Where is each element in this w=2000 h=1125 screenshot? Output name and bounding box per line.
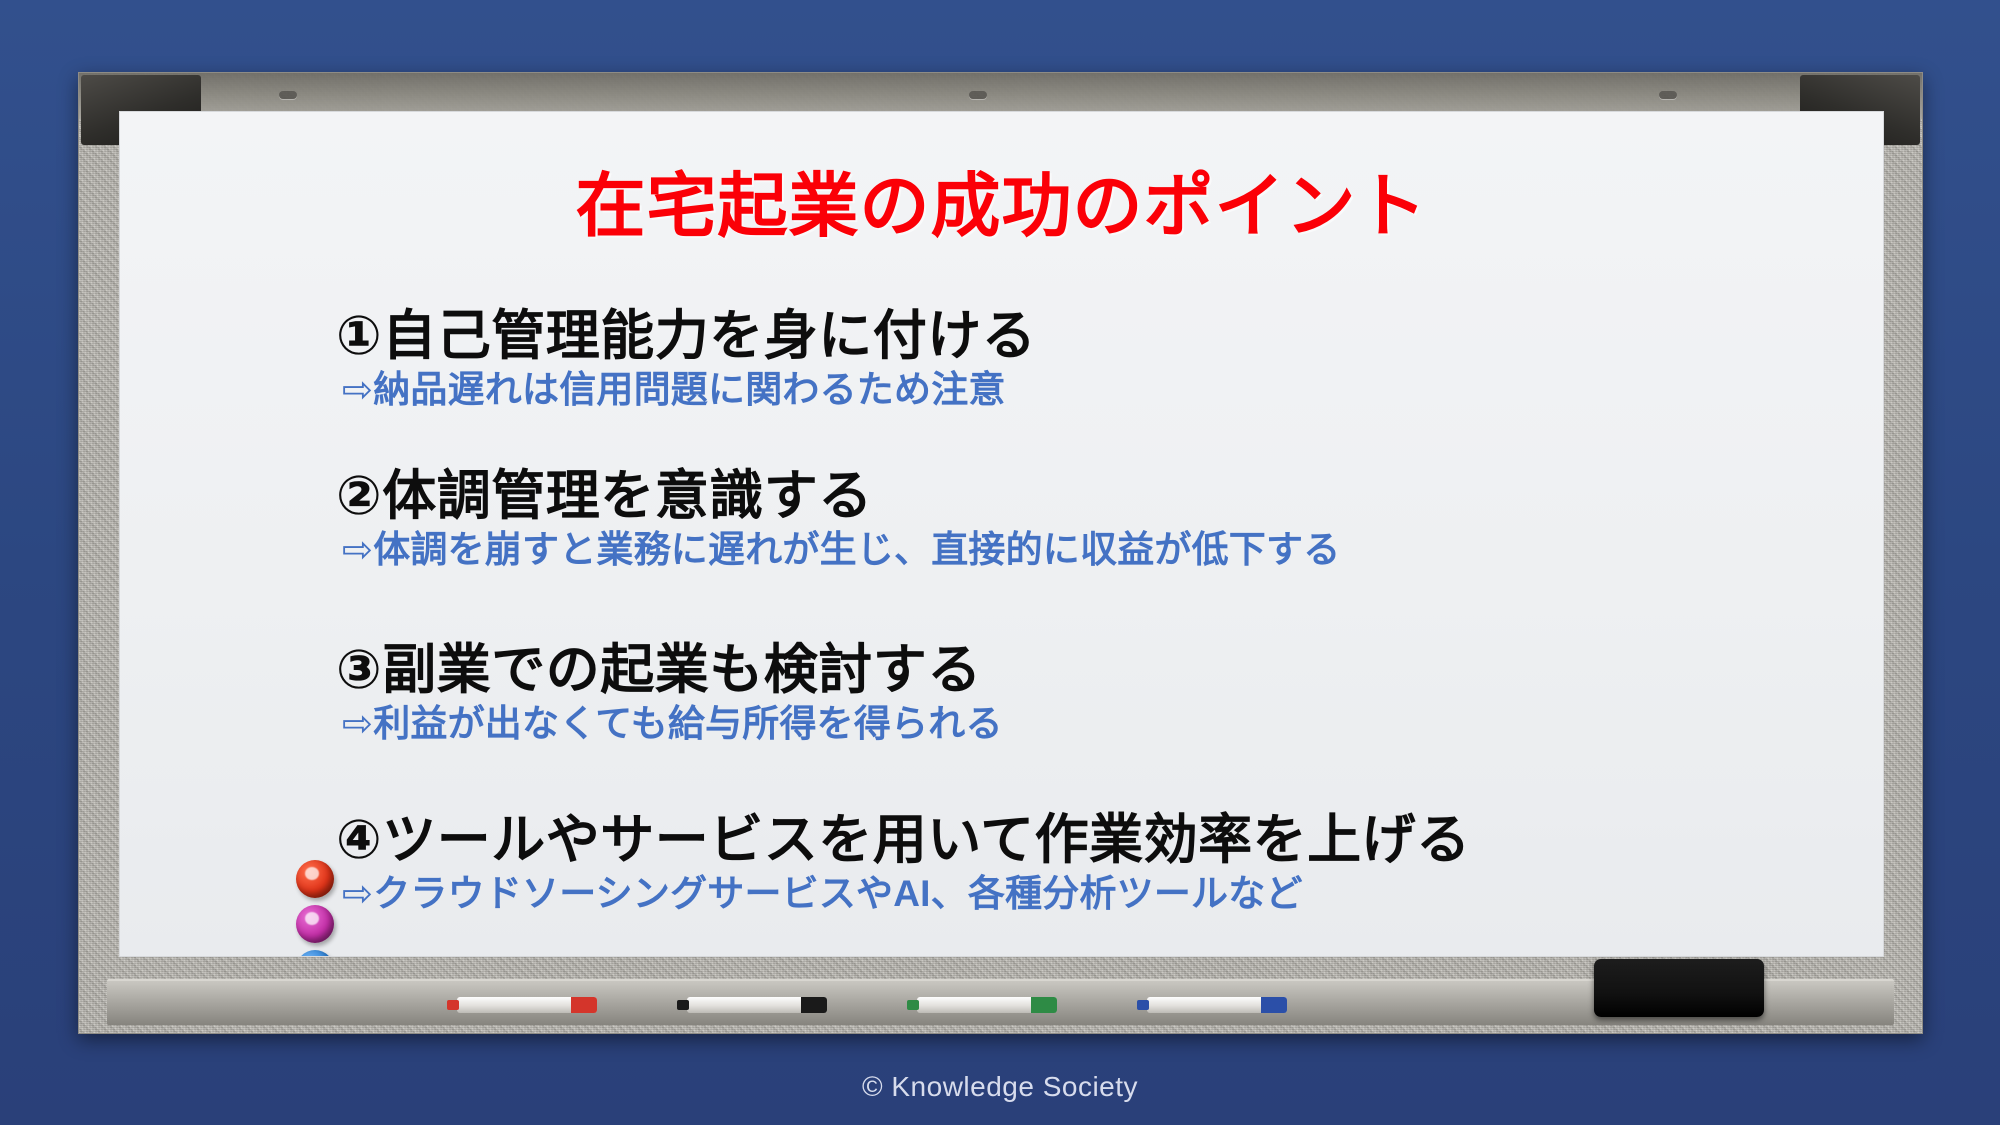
slide-content: 在宅起業の成功のポイント ①自己管理能力を身に付ける ⇨納品遅れは信用問題に関わ… (120, 112, 1883, 956)
point-sub-1: ⇨納品遅れは信用問題に関わるため注意 (120, 370, 1883, 411)
arrow-icon: ⇨ (342, 873, 373, 914)
marker-cap-blue (1261, 997, 1287, 1013)
board-eraser[interactable] (1594, 959, 1764, 1017)
point-sub-2: ⇨体調を崩すと業務に遅れが生じ、直接的に収益が低下する (120, 530, 1883, 571)
point-block-1: ①自己管理能力を身に付ける ⇨納品遅れは信用問題に関わるため注意 (120, 308, 1883, 411)
marker-blue[interactable] (1147, 997, 1287, 1013)
whiteboard-frame: 在宅起業の成功のポイント ①自己管理能力を身に付ける ⇨納品遅れは信用問題に関わ… (78, 72, 1923, 1034)
marker-tip-black (677, 1000, 689, 1010)
point-heading-3: ③副業での起業も検討する (120, 642, 1883, 699)
marker-cap-red (571, 997, 597, 1013)
marker-tip-red (447, 1000, 459, 1010)
point-sub-3: ⇨利益が出なくても給与所得を得られる (120, 704, 1883, 745)
point-sub-text-2: 体調を崩すと業務に遅れが生じ、直接的に収益が低下する (373, 529, 1340, 570)
point-sub-text-3: 利益が出なくても給与所得を得られる (373, 703, 1002, 744)
arrow-icon: ⇨ (342, 369, 373, 410)
whiteboard-surface: 在宅起業の成功のポイント ①自己管理能力を身に付ける ⇨納品遅れは信用問題に関わ… (119, 111, 1884, 957)
point-block-3: ③副業での起業も検討する ⇨利益が出なくても給与所得を得られる (120, 642, 1883, 745)
rail-hole (279, 91, 297, 99)
marker-red[interactable] (457, 997, 597, 1013)
point-sub-4: ⇨クラウドソーシングサービスやAI、各種分析ツールなど (120, 874, 1883, 915)
marker-green[interactable] (917, 997, 1057, 1013)
point-heading-2: ②体調管理を意識する (120, 468, 1883, 525)
slide-canvas: 在宅起業の成功のポイント ①自己管理能力を身に付ける ⇨納品遅れは信用問題に関わ… (0, 0, 2000, 1125)
arrow-icon: ⇨ (342, 703, 373, 744)
point-block-2: ②体調管理を意識する ⇨体調を崩すと業務に遅れが生じ、直接的に収益が低下する (120, 468, 1883, 571)
marker-tip-green (907, 1000, 919, 1010)
rail-hole (969, 91, 987, 99)
point-heading-1: ①自己管理能力を身に付ける (120, 308, 1883, 365)
point-sub-text-1: 納品遅れは信用問題に関わるため注意 (373, 369, 1005, 410)
rail-hole (1659, 91, 1677, 99)
page-title: 在宅起業の成功のポイント (120, 150, 1883, 251)
marker-tip-blue (1137, 1000, 1149, 1010)
point-heading-4: ④ツールやサービスを用いて作業効率を上げる (120, 812, 1883, 869)
arrow-icon: ⇨ (342, 529, 373, 570)
point-block-4: ④ツールやサービスを用いて作業効率を上げる ⇨クラウドソーシングサービスやAI、… (120, 812, 1883, 915)
marker-cap-black (801, 997, 827, 1013)
marker-black[interactable] (687, 997, 827, 1013)
marker-cap-green (1031, 997, 1057, 1013)
point-sub-text-4: クラウドソーシングサービスやAI、各種分析ツールなど (373, 873, 1302, 914)
footer-copyright: © Knowledge Society (0, 1071, 2000, 1103)
